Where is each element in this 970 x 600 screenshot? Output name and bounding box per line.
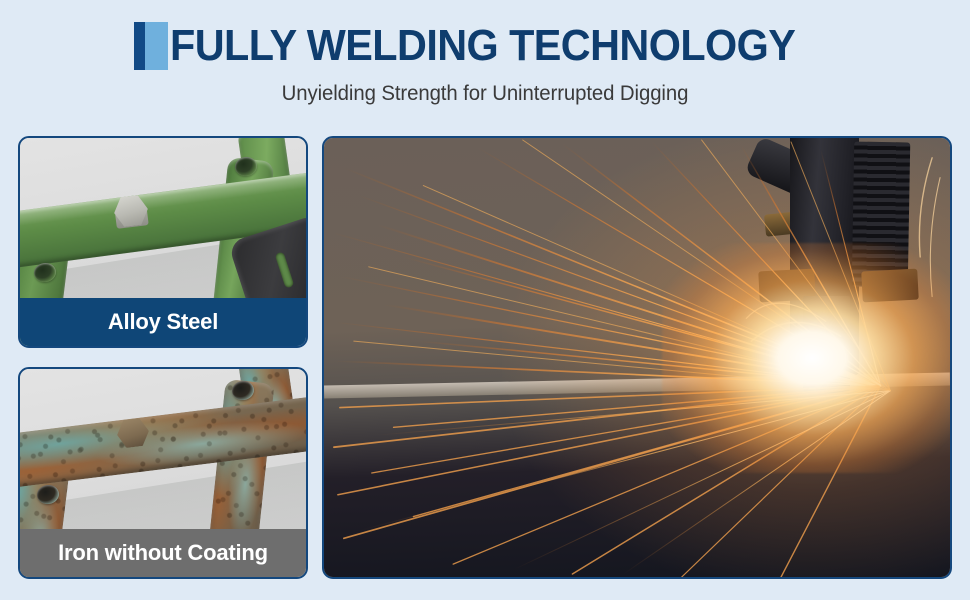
card-iron-without-coating[interactable]: Iron without Coating	[18, 367, 308, 579]
content-area: Alloy Steel Iron without Coating	[0, 133, 970, 583]
page-title: FULLY WELDING TECHNOLOGY	[0, 18, 970, 74]
card-alloy-steel[interactable]: Alloy Steel	[18, 136, 308, 348]
welding-photo	[324, 138, 950, 577]
accent-bar-dark-icon	[134, 22, 145, 70]
title-accent-bar	[134, 22, 168, 70]
page-title-text: FULLY WELDING TECHNOLOGY	[170, 22, 795, 70]
caption-iron-without-coating: Iron without Coating	[20, 529, 306, 577]
page-subtitle: Unyielding Strength for Uninterrupted Di…	[15, 81, 956, 107]
card-welding-photo[interactable]	[322, 136, 952, 579]
header: FULLY WELDING TECHNOLOGY Unyielding Stre…	[0, 0, 970, 107]
weld-arc-core	[662, 243, 950, 473]
caption-alloy-steel: Alloy Steel	[20, 298, 306, 346]
accent-bar-light-icon	[143, 22, 168, 70]
